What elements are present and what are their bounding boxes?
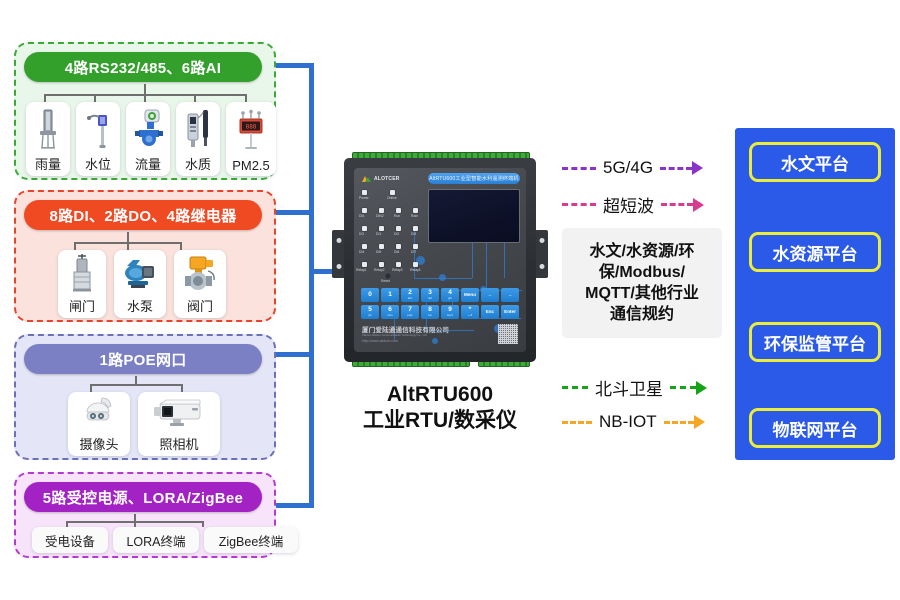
rtu-device[interactable]: ALOTCER AltRTU600工业型智能水利遥测终端机 Power Onli… [330,152,550,368]
device-chip[interactable]: ZigBee终端 [204,527,298,553]
keypad-key[interactable]: 2 abc [401,288,419,302]
keypad-key-sub: tuv [428,314,432,317]
device-card[interactable]: 流量 [126,102,170,176]
device-brand: ALOTCER [361,174,400,184]
keypad-key-sub: wxyz [447,314,453,317]
keypad-key[interactable]: 0 [361,288,379,302]
keypad-key-menu[interactable]: Menu [461,288,479,302]
group-analog-cards: 雨量 水位 [26,102,276,176]
sluice-gate-icon [58,250,106,296]
keypad-key-sub: def [428,297,432,300]
comm-link-ultrashortwave: 超短波 [562,192,704,217]
device-lcd-screen[interactable] [428,189,520,243]
dash-line-right [670,386,696,389]
platform-panel: 水文平台 水资源平台 环保监管平台 物联网平台 [735,128,895,460]
led-label: Relay2 [374,268,385,272]
water-pump-icon [114,250,166,296]
led-online [390,190,395,195]
led-indicator [413,262,418,267]
led-indicator [413,226,418,231]
keypad-key-enter[interactable]: Enter [501,305,519,319]
group-power-chips: 受电设备 LORA终端 ZigBee终端 [32,527,298,553]
led-label: DI5 [376,250,381,254]
protocol-box: 水文/水资源/环 保/Modbus/ MQTT/其他行业 通信规约 [562,228,722,338]
led-power [362,190,367,195]
group-power: 5路受控电源、LORA/ZigBee 受电设备 LORA终端 ZigBee终端 [14,472,276,558]
led-label: Relay1 [356,268,367,272]
dash-line-left [562,167,596,170]
led-label: DI7 [411,250,416,254]
led-power-label: Power [359,196,369,200]
led-label: DI4 [359,250,364,254]
keypad-key[interactable]: 8 tuv [421,305,439,319]
platform-item-hydrology[interactable]: 水文平台 [749,142,881,182]
keypad-key[interactable]: 6 mno [381,305,399,319]
device-title-line2: 工业RTU/数采仪 [330,408,550,434]
led-indicator [413,244,418,249]
protocol-line: 通信规约 [585,304,699,325]
keypad-key-sub: jkl [369,314,372,317]
dash-line-left [562,386,588,389]
comm-link-beidou: 北斗卫星 [562,375,707,400]
keypad-key-left[interactable]: ← [481,288,499,302]
protocol-line: 保/Modbus/ [585,262,699,283]
led-indicator [362,208,367,213]
device-faceplate: ALOTCER AltRTU600工业型智能水利遥测终端机 Power Onli… [354,168,526,352]
company-website: http://www.alotcer.com [362,339,398,343]
keypad-key-main: Esc [486,310,494,315]
dash-line-right [660,167,692,170]
arrow-head-icon [696,381,707,395]
flow-meter-icon [126,102,170,154]
platform-item-iot[interactable]: 物联网平台 [749,408,881,448]
arrow-head-icon [693,198,704,212]
device-card[interactable]: 水位 [76,102,120,176]
device-banner: AltRTU600工业型智能水利遥测终端机 [428,173,520,184]
comm-link-nbiot: NB-IOT [562,412,705,432]
led-indicator [379,226,384,231]
led-indicator [379,208,384,213]
device-card-label: 水质 [183,154,213,173]
device-card-label: 摄像头 [77,434,120,453]
reset-label: Reset [381,279,390,283]
led-label: DI2 [394,232,399,236]
keypad-key-sub: +-# [468,314,472,317]
keypad-key-star[interactable]: * +-# [461,305,479,319]
company-name-en: Xiamen Alotcer Communication Technology … [362,333,427,337]
device-card[interactable]: 888 PM2.5 [226,102,276,176]
comm-link-label: 超短波 [596,192,661,217]
group-poe-cards: 摄像头 照相机 [68,392,220,456]
led-label: DI6 [394,250,399,254]
led-indicator [362,244,367,249]
keypad-key[interactable]: 7 pqrs [401,305,419,319]
keypad-key-main: 0 [368,292,372,299]
device-card-label: PM2.5 [230,158,272,173]
keypad-key[interactable]: 4 ghi [441,288,459,302]
diagram-canvas: 4路RS232/485、6路AI [0,0,900,600]
valve-actuator-icon [174,250,226,296]
device-card[interactable]: 水泵 [114,250,166,318]
keypad-key-main: Menu [464,293,476,298]
platform-item-environment[interactable]: 环保监管平台 [749,322,881,362]
device-title-line1: AltRTU600 [330,382,550,408]
device-card-label: 雨量 [33,154,63,173]
dash-line-left [562,203,596,206]
keypad-key[interactable]: 5 jkl [361,305,379,319]
led-label: Rain [411,214,418,218]
keypad-key[interactable]: 1 [381,288,399,302]
device-brand-label: ALOTCER [374,176,400,182]
device-card-label: 水位 [83,154,113,173]
led-online-label: Online [387,196,397,200]
led-indicator [396,226,401,231]
device-card[interactable]: 闸门 [58,250,106,318]
device-card[interactable]: 阀门 [174,250,226,318]
device-chip[interactable]: 受电设备 [32,527,108,553]
led-indicator [379,244,384,249]
led-indicator [379,262,384,267]
keypad-key-sub: mno [387,314,392,317]
led-label: DI1 [376,232,381,236]
mounting-ear-right [535,230,548,278]
comm-link-label: 北斗卫星 [588,375,670,400]
box-camera-icon [138,392,220,434]
led-indicator [362,226,367,231]
device-chip[interactable]: LORA终端 [113,527,199,553]
led-indicator [413,208,418,213]
protocol-line: 水文/水资源/环 [585,241,699,262]
protocol-line: MQTT/其他行业 [585,283,699,304]
dome-camera-icon [68,392,130,434]
led-label: Relay4 [410,268,421,272]
pm25-monitor-icon: 888 [226,102,276,158]
svg-text:888: 888 [246,124,257,131]
comm-link-5g4g: 5G/4G [562,158,703,178]
reset-button[interactable] [386,274,390,278]
keypad-key-main: Enter [504,310,516,315]
led-indicator [396,244,401,249]
keypad-key-right[interactable]: → [501,288,519,302]
group-digital-cards: 闸门 水泵 [58,250,226,318]
dash-line-left [562,421,592,424]
device-card[interactable]: 雨量 [26,102,70,176]
led-indicator [396,262,401,267]
comm-link-label: 5G/4G [596,158,660,178]
led-label: DI3 [411,232,416,236]
keypad-key-main: ← [488,293,493,298]
led-label: Relay3 [392,268,403,272]
led-label: Run [394,214,400,218]
qr-code [498,324,518,344]
device-chassis: ALOTCER AltRTU600工业型智能水利遥测终端机 Power Onli… [344,158,536,362]
keypad-key-sub: ghi [448,297,452,300]
device-card[interactable]: 水质 [176,102,220,176]
water-level-sensor-icon [76,102,120,154]
dash-line-right [661,203,693,206]
led-indicator [396,208,401,213]
keypad-key-esc[interactable]: Esc [481,305,499,319]
keypad-key-sub: abc [408,297,413,300]
rain-gauge-icon [26,102,70,154]
bus-trunk-vertical [309,63,314,508]
led-label: DIN2 [376,214,384,218]
alotcer-logo-icon [361,174,372,184]
arrow-head-icon [692,161,703,175]
keypad-key[interactable]: 3 def [421,288,439,302]
device-card-label: 流量 [133,154,163,173]
keypad-key-sub: pqrs [407,314,412,317]
led-label: DO [359,232,364,236]
device-card-label: 水泵 [125,296,155,315]
group-poe: 1路POE网口 [14,334,276,460]
device-card[interactable]: 照相机 [138,392,220,456]
device-title: AltRTU600 工业RTU/数采仪 [330,382,550,433]
group-analog: 4路RS232/485、6路AI [14,42,276,180]
dash-line-right [664,421,694,424]
keypad-key-main: → [508,293,513,298]
device-card-label: 照相机 [157,434,200,453]
device-card-label: 阀门 [185,296,215,315]
water-quality-probe-icon [176,102,220,154]
group-digital: 8路DI、2路DO、4路继电器 闸门 [14,190,276,322]
platform-item-water-resources[interactable]: 水资源平台 [749,232,881,272]
device-card[interactable]: 摄像头 [68,392,130,456]
led-label: DI4 [359,214,364,218]
keypad-key-main: 1 [388,292,392,299]
led-indicator [362,262,367,267]
device-card-label: 闸门 [67,296,97,315]
comm-link-label: NB-IOT [592,412,664,432]
arrow-head-icon [694,415,705,429]
keypad-key[interactable]: 9 wxyz [441,305,459,319]
